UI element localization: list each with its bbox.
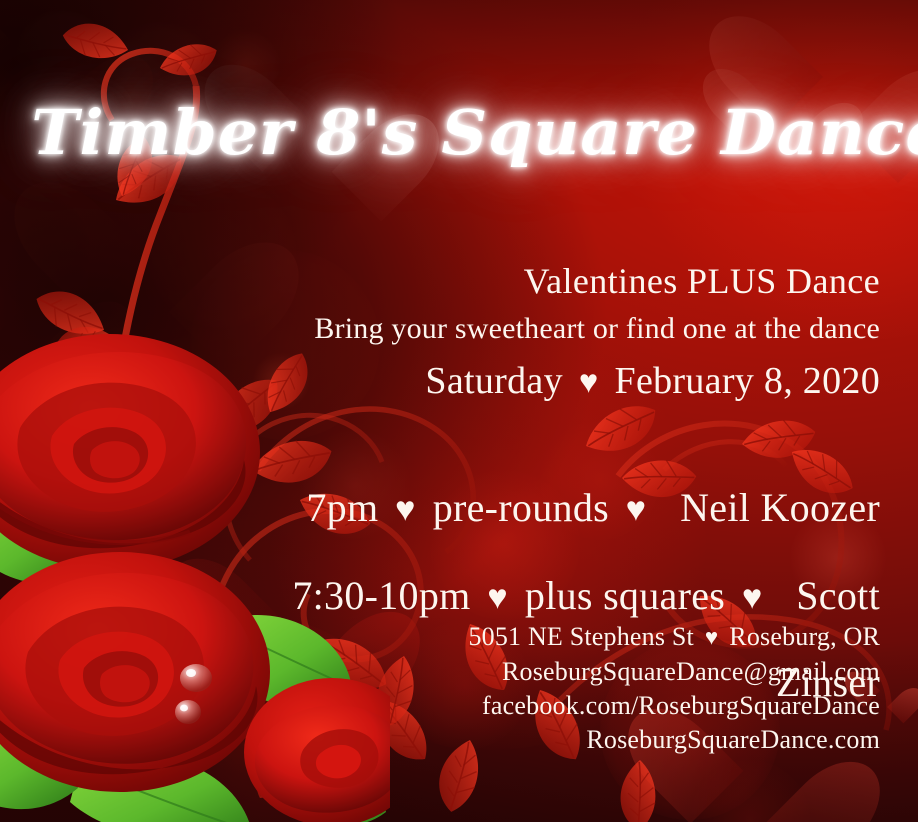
event-date: Saturday♥February 8, 2020	[180, 354, 880, 409]
contact-website[interactable]: RoseburgSquareDance.com	[180, 723, 880, 757]
event-tagline: Bring your sweetheart or find one at the…	[180, 304, 880, 354]
club-title: Timber 8's Square Dance Club	[31, 96, 908, 169]
heart-icon: ♥	[742, 578, 763, 616]
heart-icon: ♥	[705, 625, 718, 650]
heart-icon: ♥	[579, 364, 599, 400]
schedule-row-0: 7pm♥pre-rounds♥Neil Koozer	[180, 465, 880, 552]
event-date-full: February 8, 2020	[615, 360, 880, 402]
schedule-caller: Neil Koozer	[680, 485, 880, 530]
valentines-dance-flyer: [data-name="heart-shape-top-right-large"…	[0, 0, 918, 822]
contact-email[interactable]: RoseburgSquareDance@gmail.com	[180, 655, 880, 689]
address-city: Roseburg, OR	[729, 622, 880, 651]
spacer	[180, 409, 880, 465]
address-street: 5051 NE Stephens St	[468, 622, 694, 651]
heart-icon: ♥	[626, 491, 647, 529]
heart-icon: ♥	[487, 578, 508, 616]
event-date-day: Saturday	[425, 360, 562, 402]
contact-address: 5051 NE Stephens St♥Roseburg, OR	[180, 620, 880, 655]
contact-block: 5051 NE Stephens St♥Roseburg, OR Rosebur…	[180, 620, 880, 757]
contact-facebook[interactable]: facebook.com/RoseburgSquareDance	[180, 689, 880, 723]
heart-icon: ♥	[395, 491, 416, 529]
event-name: Valentines PLUS Dance	[180, 258, 880, 304]
schedule-activity: plus squares	[525, 573, 725, 618]
schedule-time: 7pm	[306, 485, 378, 530]
schedule-activity: pre-rounds	[433, 485, 609, 530]
schedule-time: 7:30-10pm	[292, 573, 470, 618]
